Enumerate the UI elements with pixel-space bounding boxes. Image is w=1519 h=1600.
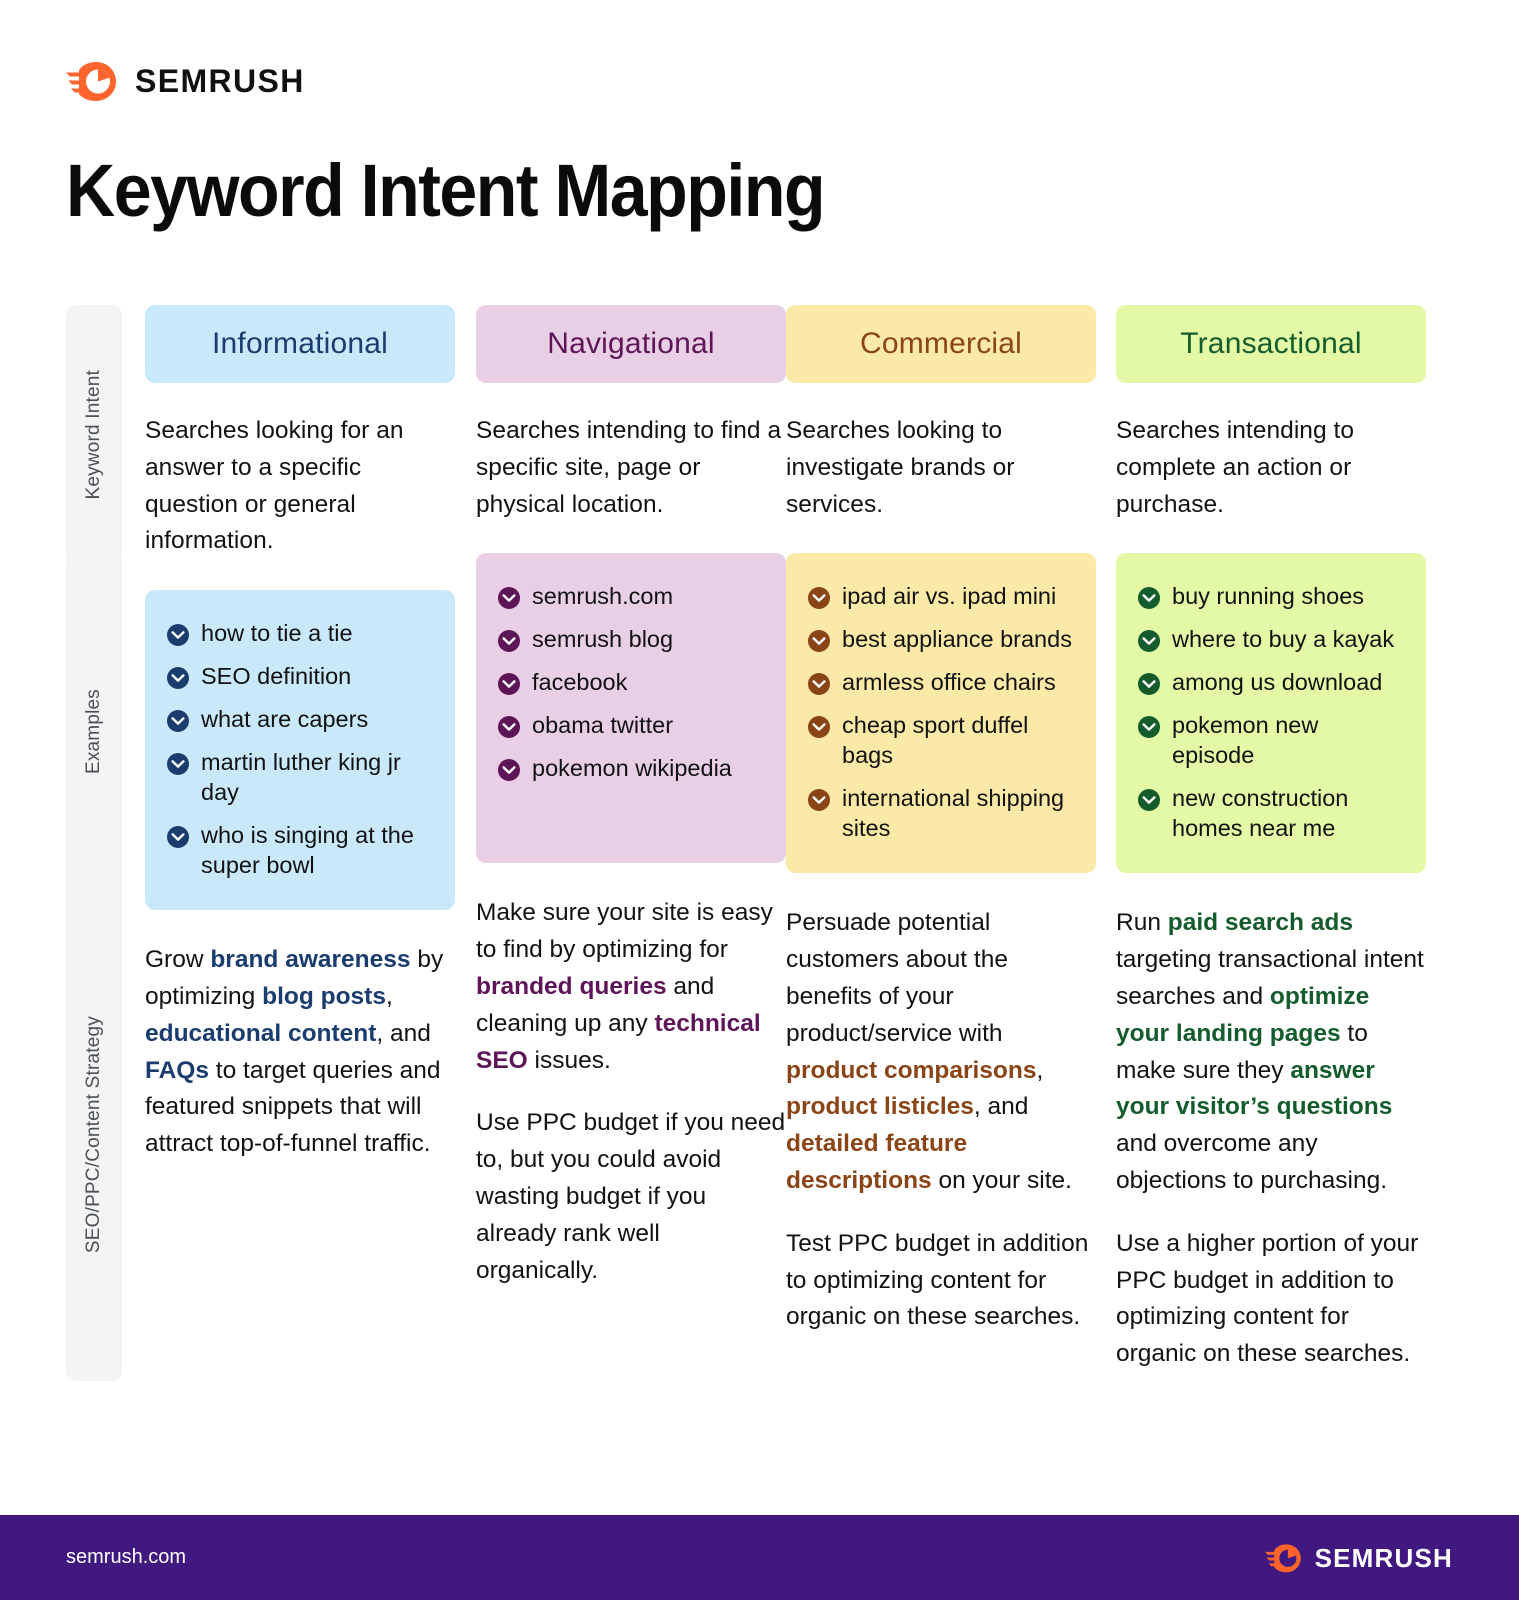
check-circle-icon xyxy=(167,826,189,848)
strategy-text: Persuade potential customers about the b… xyxy=(786,909,1008,1046)
strategy-highlight: product comparisons xyxy=(786,1057,1036,1084)
example-item: ipad air vs. ipad mini xyxy=(808,581,1074,611)
check-circle-icon xyxy=(808,789,830,811)
example-item: among us download xyxy=(1138,667,1404,697)
example-label: international shipping sites xyxy=(842,783,1074,843)
strategy-text: Make sure your site is easy to find by o… xyxy=(476,899,773,963)
brand-name: SEMRUSH xyxy=(135,65,305,97)
strategy-text: , and xyxy=(974,1093,1029,1120)
example-label: pokemon wikipedia xyxy=(532,753,732,783)
check-circle-icon xyxy=(498,759,520,781)
example-item: how to tie a tie xyxy=(167,618,433,648)
column-header-commercial[interactable]: Commercial xyxy=(786,305,1096,383)
examples-card-transactional: buy running shoeswhere to buy a kayakamo… xyxy=(1116,553,1426,873)
check-circle-icon xyxy=(167,624,189,646)
strategy-highlight: branded queries xyxy=(476,973,667,1000)
strategy-highlight: educational content xyxy=(145,1020,376,1047)
example-item: semrush.com xyxy=(498,581,764,611)
example-item: SEO definition xyxy=(167,661,433,691)
check-circle-icon xyxy=(498,716,520,738)
example-label: best appliance brands xyxy=(842,624,1072,654)
check-circle-icon xyxy=(498,630,520,652)
example-label: ipad air vs. ipad mini xyxy=(842,581,1056,611)
example-item: what are capers xyxy=(167,704,433,734)
example-item: new construction homes near me xyxy=(1138,783,1404,843)
check-circle-icon xyxy=(1138,673,1160,695)
example-label: who is singing at the super bowl xyxy=(201,820,433,880)
check-circle-icon xyxy=(167,667,189,689)
example-label: buy running shoes xyxy=(1172,581,1364,611)
strategy-text: , and xyxy=(376,1020,431,1047)
check-circle-icon xyxy=(167,753,189,775)
example-item: cheap sport duffel bags xyxy=(808,710,1074,770)
check-circle-icon xyxy=(167,710,189,732)
strategy-paragraph: Test PPC budget in addition to optimizin… xyxy=(786,1226,1096,1336)
strategy-paragraph: Use PPC budget if you need to, but you c… xyxy=(476,1105,786,1289)
strategy-paragraph: Make sure your site is easy to find by o… xyxy=(476,895,786,1079)
example-label: cheap sport duffel bags xyxy=(842,710,1074,770)
example-label: what are capers xyxy=(201,704,368,734)
strategy-text: Grow xyxy=(145,946,210,973)
examples-card-navigational: semrush.comsemrush blogfacebookobama twi… xyxy=(476,553,786,863)
example-item: armless office chairs xyxy=(808,667,1074,697)
example-label: obama twitter xyxy=(532,710,673,740)
example-item: buy running shoes xyxy=(1138,581,1404,611)
semrush-comet-icon xyxy=(1265,1543,1305,1573)
example-label: pokemon new episode xyxy=(1172,710,1404,770)
examples-card-commercial: ipad air vs. ipad minibest appliance bra… xyxy=(786,553,1096,873)
strategy-text: issues. xyxy=(528,1047,611,1074)
strategy-highlight: product listicles xyxy=(786,1093,974,1120)
check-circle-icon xyxy=(1138,789,1160,811)
column-definition-navigational: Searches intending to find a specific si… xyxy=(476,413,786,523)
page-title: Keyword Intent Mapping xyxy=(66,148,824,233)
example-label: among us download xyxy=(1172,667,1382,697)
example-label: new construction homes near me xyxy=(1172,783,1404,843)
strategy-text: , xyxy=(386,983,393,1010)
strategy-text: , xyxy=(1036,1057,1043,1084)
strategy-text: and overcome any objections to purchasin… xyxy=(1116,1130,1387,1194)
strategy-informational: Grow brand awareness by optimizing blog … xyxy=(145,942,455,1163)
strategy-text: Use a higher portion of your PPC budget … xyxy=(1116,1230,1418,1367)
footer-brand-logo: SEMRUSH xyxy=(1265,1543,1453,1573)
example-item: obama twitter xyxy=(498,710,764,740)
column-header-navigational[interactable]: Navigational xyxy=(476,305,786,383)
check-circle-icon xyxy=(808,587,830,609)
column-definition-commercial: Searches looking to investigate brands o… xyxy=(786,413,1096,523)
column-header-transactional[interactable]: Transactional xyxy=(1116,305,1426,383)
strategy-text: on your site. xyxy=(932,1167,1072,1194)
check-circle-icon xyxy=(1138,587,1160,609)
page-footer: semrush.com SEMRUSH xyxy=(0,1515,1519,1600)
footer-brand-name: SEMRUSH xyxy=(1315,1545,1453,1571)
column-definition-informational: Searches looking for an answer to a spec… xyxy=(145,413,455,560)
column-commercial: Commercial Searches looking to investiga… xyxy=(786,305,1096,1336)
column-transactional: Transactional Searches intending to comp… xyxy=(1116,305,1426,1373)
column-header-informational[interactable]: Informational xyxy=(145,305,455,383)
example-label: facebook xyxy=(532,667,627,697)
column-navigational: Navigational Searches intending to find … xyxy=(476,305,786,1289)
example-item: who is singing at the super bowl xyxy=(167,820,433,880)
example-item: pokemon wikipedia xyxy=(498,753,764,783)
strategy-navigational: Make sure your site is easy to find by o… xyxy=(476,895,786,1289)
check-circle-icon xyxy=(1138,630,1160,652)
example-label: armless office chairs xyxy=(842,667,1056,697)
example-label: SEO definition xyxy=(201,661,351,691)
check-circle-icon xyxy=(1138,716,1160,738)
check-circle-icon xyxy=(498,673,520,695)
strategy-paragraph: Run paid search ads targeting transactio… xyxy=(1116,905,1426,1199)
example-label: semrush.com xyxy=(532,581,673,611)
example-item: best appliance brands xyxy=(808,624,1074,654)
check-circle-icon xyxy=(808,673,830,695)
strategy-text: Test PPC budget in addition to optimizin… xyxy=(786,1230,1088,1331)
example-item: semrush blog xyxy=(498,624,764,654)
example-label: semrush blog xyxy=(532,624,673,654)
example-item: pokemon new episode xyxy=(1138,710,1404,770)
example-label: how to tie a tie xyxy=(201,618,353,648)
example-label: martin luther king jr day xyxy=(201,747,433,807)
column-informational: Informational Searches looking for an an… xyxy=(145,305,455,1163)
column-definition-transactional: Searches intending to complete an action… xyxy=(1116,413,1426,523)
brand-logo: SEMRUSH xyxy=(66,60,305,102)
example-item: international shipping sites xyxy=(808,783,1074,843)
example-item: facebook xyxy=(498,667,764,697)
strategy-highlight: blog posts xyxy=(262,983,386,1010)
infographic-page: SEMRUSH Keyword Intent Mapping Keyword I… xyxy=(0,0,1519,1600)
semrush-comet-icon xyxy=(66,60,122,102)
strategy-text: Run xyxy=(1116,909,1168,936)
check-circle-icon xyxy=(808,716,830,738)
strategy-commercial: Persuade potential customers about the b… xyxy=(786,905,1096,1336)
strategy-paragraph: Use a higher portion of your PPC budget … xyxy=(1116,1226,1426,1373)
strategy-text: Use PPC budget if you need to, but you c… xyxy=(476,1109,785,1283)
check-circle-icon xyxy=(498,587,520,609)
row-label-keyword-intent: Keyword Intent xyxy=(66,305,122,564)
row-label-examples: Examples xyxy=(66,553,122,910)
strategy-highlight: paid search ads xyxy=(1168,909,1353,936)
strategy-paragraph: Persuade potential customers about the b… xyxy=(786,905,1096,1199)
example-label: where to buy a kayak xyxy=(1172,624,1394,654)
example-item: martin luther king jr day xyxy=(167,747,433,807)
check-circle-icon xyxy=(808,630,830,652)
row-label-strategy: SEO/PPC/Content Strategy xyxy=(66,887,122,1381)
strategy-paragraph: Grow brand awareness by optimizing blog … xyxy=(145,942,455,1163)
example-item: where to buy a kayak xyxy=(1138,624,1404,654)
strategy-transactional: Run paid search ads targeting transactio… xyxy=(1116,905,1426,1373)
footer-url[interactable]: semrush.com xyxy=(66,1546,186,1569)
strategy-highlight: brand awareness xyxy=(210,946,410,973)
strategy-highlight: FAQs xyxy=(145,1057,209,1084)
examples-card-informational: how to tie a tieSEO definitionwhat are c… xyxy=(145,590,455,910)
